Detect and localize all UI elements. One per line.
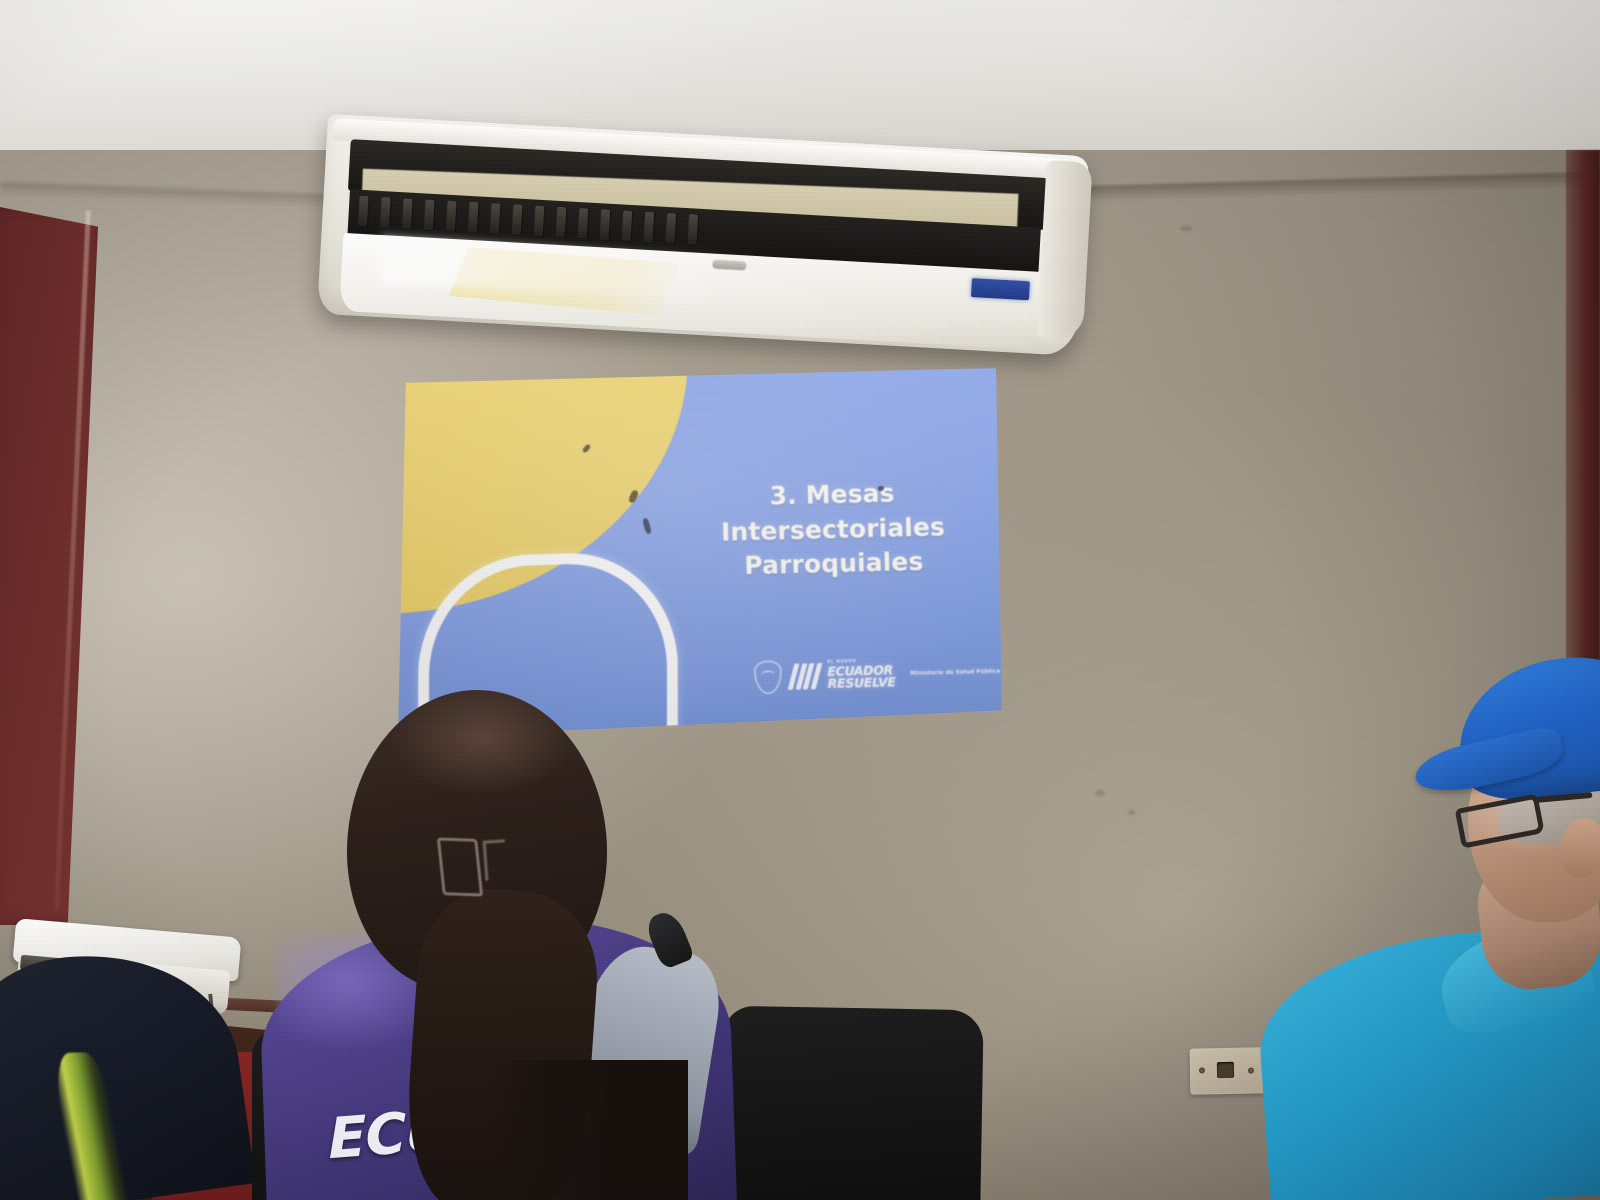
right-wall-dark-strip bbox=[1566, 150, 1600, 670]
ponytail-occlusion bbox=[488, 1060, 688, 1200]
ac-louver bbox=[468, 202, 479, 232]
ac-louver bbox=[687, 214, 698, 244]
hair-clip-icon bbox=[437, 837, 483, 896]
outlet-screw bbox=[1248, 1068, 1254, 1074]
wall-blemish bbox=[1180, 226, 1192, 231]
wall-blemish bbox=[1128, 810, 1135, 815]
chair-back-right bbox=[720, 1006, 983, 1200]
ac-louver bbox=[534, 206, 545, 236]
wall-power-outlet bbox=[1190, 1047, 1265, 1094]
attendee-dark-uniform bbox=[0, 955, 270, 1200]
ac-louver bbox=[490, 203, 501, 233]
ac-louver bbox=[556, 207, 567, 237]
ac-louver bbox=[622, 211, 633, 241]
ac-louver bbox=[578, 208, 589, 238]
ac-louver bbox=[446, 201, 457, 231]
hair-clip-icon bbox=[483, 839, 508, 880]
ac-louver bbox=[665, 213, 676, 243]
attendee-purple-shirt: EL N ECUAD bbox=[252, 690, 812, 1200]
presentation-room-photo: 3. Mesas Intersectoriales Parroquiales E… bbox=[0, 0, 1600, 1200]
outlet-socket-slot bbox=[1217, 1062, 1234, 1078]
ac-louver bbox=[512, 204, 523, 234]
ac-louver bbox=[358, 196, 369, 226]
ceiling-split-air-conditioner bbox=[317, 114, 1089, 356]
ac-louver bbox=[380, 197, 391, 227]
attendee-blue-cap bbox=[1262, 648, 1600, 1200]
attendee-left-torso bbox=[0, 935, 256, 1200]
ac-louver bbox=[644, 212, 655, 242]
outlet-screw bbox=[1199, 1067, 1205, 1073]
ac-louver bbox=[600, 209, 611, 239]
ac-louver bbox=[402, 198, 413, 228]
ac-louver bbox=[424, 199, 435, 229]
eyeglass-arm bbox=[1534, 792, 1592, 803]
ac-display-panel[interactable] bbox=[971, 278, 1030, 300]
ac-sensor-strip bbox=[712, 260, 746, 271]
wall-blemish bbox=[1095, 790, 1105, 796]
eyeglass-lens bbox=[1455, 793, 1545, 848]
